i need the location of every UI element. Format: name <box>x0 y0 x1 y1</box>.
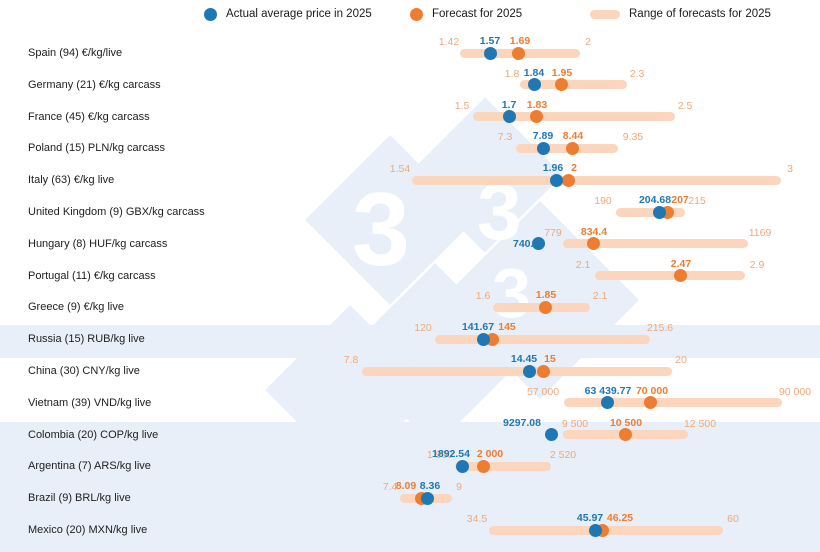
range-bar <box>435 335 650 344</box>
forecast-value-label: 834.4 <box>581 226 607 238</box>
actual-dot[interactable] <box>421 492 434 505</box>
forecast-value-label: 145 <box>498 321 516 333</box>
range-max-label: 60 <box>727 513 739 525</box>
chart-row: Spain (94) €/kg/live1.4221.691.57 <box>0 37 820 69</box>
actual-dot[interactable] <box>589 524 602 537</box>
row-label: France (45) €/kg carcass <box>28 111 150 123</box>
row-label: United Kingdom (9) GBX/kg carcass <box>28 206 205 218</box>
chart-row: Germany (21) €/kg carcass1.82.31.951.84 <box>0 69 820 101</box>
forecast-dot[interactable] <box>512 47 525 60</box>
range-min-label: 1.5 <box>455 100 470 112</box>
range-max-label: 3 <box>787 163 793 175</box>
legend-item-actual: Actual average price in 2025 <box>204 0 372 28</box>
actual-value-label: 1892.54 <box>432 448 470 460</box>
range-min-label: 1.42 <box>439 36 459 48</box>
forecast-value-label: 1.69 <box>510 35 530 47</box>
row-label: Hungary (8) HUF/kg carcass <box>28 238 167 250</box>
row-label: Greece (9) €/kg live <box>28 301 124 313</box>
actual-dot[interactable] <box>484 47 497 60</box>
legend-label-forecast: Forecast for 2025 <box>432 8 522 20</box>
forecast-dot[interactable] <box>477 460 490 473</box>
range-min-label: 7.3 <box>498 131 513 143</box>
range-max-label: 9 <box>456 481 462 493</box>
forecast-dot[interactable] <box>587 237 600 250</box>
range-bar-icon <box>590 10 620 19</box>
chart-row: Vietnam (39) VND/kg live57 00090 00070 0… <box>0 387 820 419</box>
range-max-label: 20 <box>675 354 687 366</box>
chart-row: Colombia (20) COP/kg live9 50012 50010 5… <box>0 419 820 451</box>
chart-row: Hungary (8) HUF/kg carcass7791169834.474… <box>0 228 820 260</box>
chart-legend: Actual average price in 2025 Forecast fo… <box>0 0 820 28</box>
actual-dot[interactable] <box>545 428 558 441</box>
range-bar <box>564 398 782 407</box>
range-max-label: 9.35 <box>623 131 643 143</box>
actual-dot[interactable] <box>523 365 536 378</box>
row-label: Colombia (20) COP/kg live <box>28 429 158 441</box>
forecast-value-label: 8.09 <box>396 480 416 492</box>
range-min-label: 2.1 <box>576 259 591 271</box>
row-label: China (30) CNY/kg live <box>28 365 140 377</box>
forecast-value-label: 70 000 <box>636 385 668 397</box>
forecast-dot[interactable] <box>539 301 552 314</box>
actual-value-label: 7.89 <box>533 130 553 142</box>
actual-value-label: 1.96 <box>543 162 563 174</box>
actual-dot[interactable] <box>477 333 490 346</box>
forecast-value-label: 2.47 <box>671 258 691 270</box>
actual-dot[interactable] <box>550 174 563 187</box>
range-max-label: 2.3 <box>630 68 645 80</box>
row-label: Vietnam (39) VND/kg live <box>28 397 151 409</box>
actual-value-label: 1.57 <box>480 35 500 47</box>
forecast-dot[interactable] <box>566 142 579 155</box>
range-max-label: 12 500 <box>684 418 716 430</box>
row-label: Portugal (11) €/kg carcass <box>28 270 156 282</box>
chart-row: Mexico (20) MXN/kg live34.56046.2545.97 <box>0 514 820 546</box>
range-max-label: 90 000 <box>779 386 811 398</box>
range-max-label: 215 <box>688 195 706 207</box>
chart-row: Portugal (11) €/kg carcass2.12.92.47 <box>0 260 820 292</box>
blue-dot-icon <box>204 8 217 21</box>
actual-dot[interactable] <box>503 110 516 123</box>
row-label: Germany (21) €/kg carcass <box>28 79 161 91</box>
orange-dot-icon <box>410 8 423 21</box>
row-label: Argentina (7) ARS/kg live <box>28 460 151 472</box>
range-max-label: 215.6 <box>647 322 673 334</box>
row-label: Poland (15) PLN/kg carcass <box>28 142 165 154</box>
chart-row: Argentina (7) ARS/kg live1 9002 5202 000… <box>0 450 820 482</box>
actual-dot[interactable] <box>653 206 666 219</box>
range-min-label: 1.8 <box>505 68 520 80</box>
actual-value-label: 9297.08 <box>503 417 541 429</box>
forecast-value-label: 8.44 <box>563 130 583 142</box>
chart-row: China (30) CNY/kg live7.8201514.45 <box>0 355 820 387</box>
range-max-label: 2.9 <box>750 259 765 271</box>
row-label: Brazil (9) BRL/kg live <box>28 492 131 504</box>
row-label: Russia (15) RUB/kg live <box>28 333 145 345</box>
range-min-label: 34.5 <box>467 513 487 525</box>
forecast-dot[interactable] <box>674 269 687 282</box>
actual-value-label: 204.68 <box>639 194 671 206</box>
range-bar <box>455 462 551 471</box>
range-bar <box>595 271 745 280</box>
forecast-dot[interactable] <box>537 365 550 378</box>
legend-label-actual: Actual average price in 2025 <box>226 8 372 20</box>
chart-row: France (45) €/kg carcass1.52.51.831.7 <box>0 101 820 133</box>
range-min-label: 120 <box>414 322 432 334</box>
range-max-label: 1169 <box>749 227 772 239</box>
actual-dot[interactable] <box>601 396 614 409</box>
actual-value-label: 63 439.77 <box>585 385 632 397</box>
legend-label-range: Range of forecasts for 2025 <box>629 8 771 20</box>
forecast-dot[interactable] <box>530 110 543 123</box>
chart-row: Russia (15) RUB/kg live120215.6145141.67 <box>0 323 820 355</box>
range-min-label: 1.54 <box>390 163 410 175</box>
chart-row: Greece (9) €/kg live1.62.11.85 <box>0 291 820 323</box>
range-min-label: 1.6 <box>476 290 491 302</box>
range-min-label: 190 <box>594 195 612 207</box>
row-label: Mexico (20) MXN/kg live <box>28 524 147 536</box>
actual-dot[interactable] <box>456 460 469 473</box>
forecast-dot[interactable] <box>555 78 568 91</box>
forecast-value-label: 207 <box>671 194 689 206</box>
legend-item-forecast: Forecast for 2025 <box>410 0 522 28</box>
range-max-label: 2.5 <box>678 100 693 112</box>
range-bar <box>616 208 685 217</box>
forecast-value-label: 15 <box>544 353 556 365</box>
range-max-label: 2 520 <box>550 449 576 461</box>
chart-row: Italy (63) €/kg live1.54321.96 <box>0 164 820 196</box>
forecast-value-label: 10 500 <box>610 417 642 429</box>
forecast-value-label: 2 000 <box>477 448 503 460</box>
range-bar <box>362 367 672 376</box>
forecast-value-label: 1.85 <box>536 289 556 301</box>
chart-row: Poland (15) PLN/kg carcass7.39.358.447.8… <box>0 132 820 164</box>
actual-value-label: 8.36 <box>420 480 440 492</box>
legend-item-range: Range of forecasts for 2025 <box>590 0 771 28</box>
forecast-value-label: 1.83 <box>527 99 547 111</box>
row-label: Spain (94) €/kg/live <box>28 47 122 59</box>
actual-value-label: 1.84 <box>524 67 544 79</box>
range-min-label: 7.8 <box>344 354 359 366</box>
actual-value-label: 1.7 <box>502 99 517 111</box>
actual-value-label: 14.45 <box>511 353 537 365</box>
range-min-label: 57 000 <box>527 386 559 398</box>
forecast-value-label: 2 <box>571 162 577 174</box>
forecast-value-label: 1.95 <box>552 67 572 79</box>
actual-value-label: 141.67 <box>462 321 494 333</box>
chart-root: 3 3 3 Actual average price in 2025 Forec… <box>0 0 820 552</box>
forecast-dot[interactable] <box>562 174 575 187</box>
row-label: Italy (63) €/kg live <box>28 174 114 186</box>
forecast-dot[interactable] <box>644 396 657 409</box>
actual-dot[interactable] <box>532 237 545 250</box>
forecast-dot[interactable] <box>619 428 632 441</box>
range-max-label: 2 <box>585 36 591 48</box>
actual-dot[interactable] <box>537 142 550 155</box>
range-min-label: 9 500 <box>562 418 588 430</box>
range-min-label: 779 <box>544 227 562 239</box>
range-max-label: 2.1 <box>593 290 608 302</box>
forecast-value-label: 46.25 <box>607 512 633 524</box>
chart-row: Brazil (9) BRL/kg live7.498.098.36 <box>0 482 820 514</box>
range-bar <box>412 176 781 185</box>
actual-dot[interactable] <box>528 78 541 91</box>
chart-row: United Kingdom (9) GBX/kg carcass1902152… <box>0 196 820 228</box>
actual-value-label: 45.97 <box>577 512 603 524</box>
